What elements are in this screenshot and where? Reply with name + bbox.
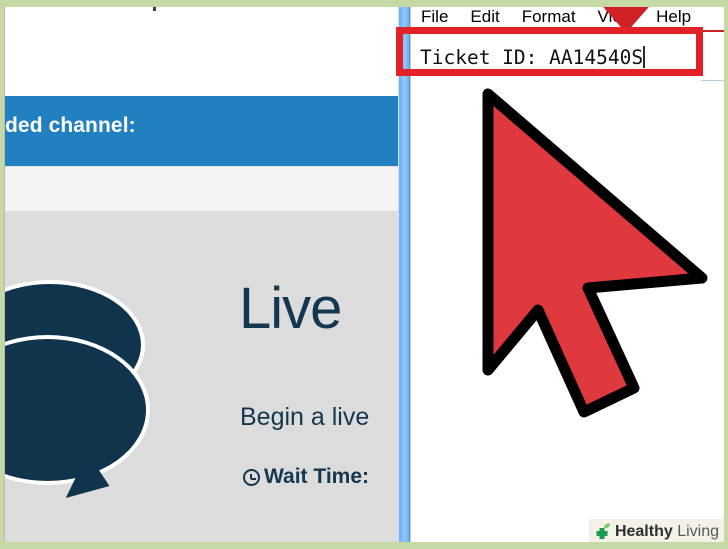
frame-edge-right	[724, 0, 728, 549]
menu-item-file[interactable]: File	[421, 7, 448, 27]
textarea-edge-hairline	[701, 80, 724, 81]
panel-subheader-strip	[5, 167, 398, 211]
vertical-scrollbar[interactable]	[398, 7, 410, 542]
wait-time-label: Wait Time:	[264, 465, 369, 489]
red-arrow-cursor	[466, 82, 722, 422]
wait-time-row: Wait Time:	[243, 465, 369, 489]
clock-icon	[243, 469, 260, 486]
cursor-arrow-shape	[488, 94, 702, 412]
channel-banner-label: ded channel:	[5, 114, 136, 138]
panel-top-marker	[153, 7, 156, 11]
watermark-brand-light: Living	[673, 523, 719, 540]
panel-top-whitespace	[5, 7, 398, 96]
frame-edge-bottom	[0, 542, 728, 549]
speech-bubbles-icon	[4, 280, 195, 530]
watermark-text: Healthy Living	[615, 523, 719, 541]
green-cross-leaf-icon	[592, 522, 612, 542]
menu-item-format[interactable]: Format	[522, 7, 576, 27]
screenshot-root: ded channel: Live Begin a live Wait Time…	[0, 0, 728, 549]
chat-support-panel: ded channel: Live Begin a live Wait Time…	[4, 7, 398, 542]
frame-edge-left	[0, 0, 4, 549]
channel-banner: ded channel:	[5, 96, 398, 167]
text-caret	[643, 46, 645, 68]
frame-edge-top	[0, 0, 728, 7]
watermark-brand-bold: Healthy	[615, 523, 673, 540]
begin-live-chat-text: Begin a live	[240, 403, 369, 432]
menu-item-edit[interactable]: Edit	[470, 7, 499, 27]
scrollbar-thumb[interactable]	[402, 7, 407, 542]
notepad-menubar: File Edit Format View Help	[411, 4, 724, 30]
live-chat-heading: Live	[239, 280, 341, 338]
notepad-document-line[interactable]: Ticket ID: AA14540S	[420, 46, 645, 69]
ticket-id-text: Ticket ID: AA14540S	[420, 46, 643, 69]
menu-item-help[interactable]: Help	[656, 7, 691, 27]
